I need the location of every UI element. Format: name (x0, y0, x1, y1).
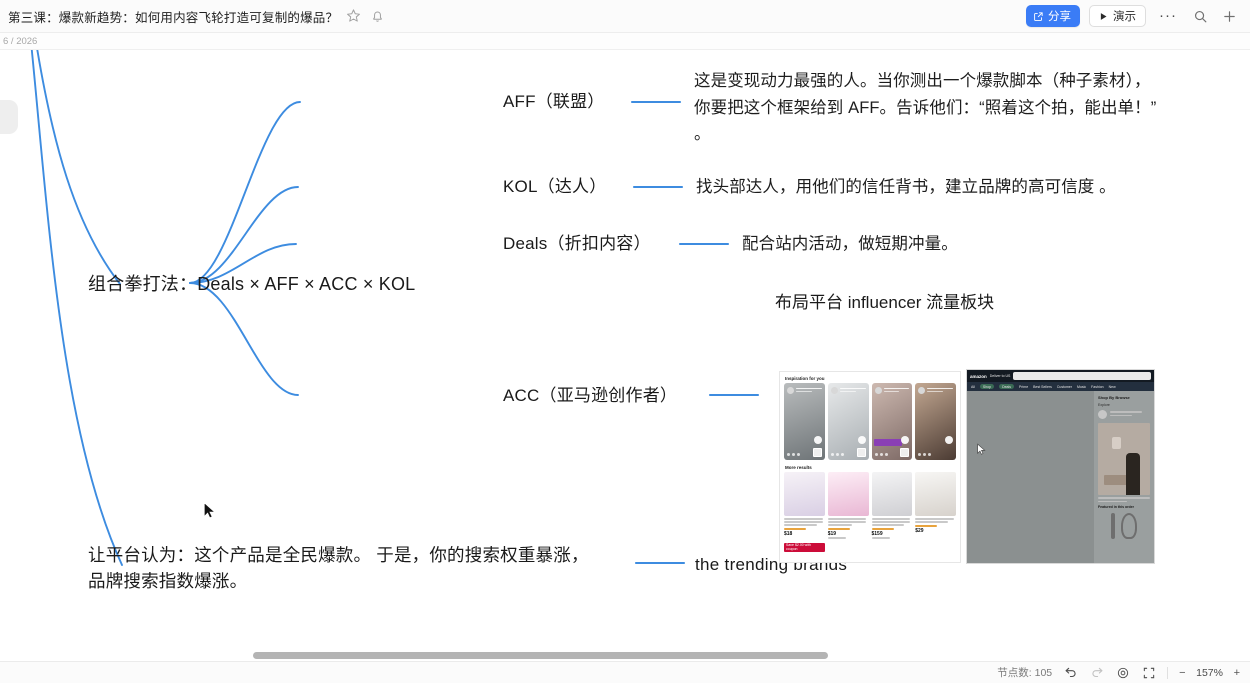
nav-item[interactable]: New (1109, 385, 1116, 389)
nav-item[interactable]: Music (1077, 385, 1086, 389)
status-bar: 节点数: 105 − 157% + (0, 661, 1250, 683)
title-bar-right: 分享 演示 ··· (1026, 5, 1250, 27)
product-card[interactable]: $19 (828, 472, 869, 555)
nav-item[interactable]: Fashion (1091, 385, 1103, 389)
product-card-row: $18 Save $2.00 with coupon $19 (780, 472, 960, 555)
share-button-label: 分享 (1048, 8, 1071, 24)
present-button-label: 演示 (1113, 8, 1136, 24)
video-card[interactable] (828, 383, 869, 460)
node-bottom[interactable]: 让平台认为：这个产品是全民爆款。 于是，你的搜索权重暴涨， 品牌搜索指数爆涨。 (88, 542, 628, 595)
search-icon[interactable] (1190, 6, 1210, 26)
share-external-icon (1033, 11, 1044, 22)
undo-arrow-icon[interactable] (1063, 665, 1078, 680)
product-card[interactable]: $159 (872, 472, 913, 555)
product-price: $19 (828, 531, 869, 537)
avatar (1098, 410, 1107, 419)
nav-item[interactable]: Deals (999, 384, 1014, 389)
embedded-image-amazon-page[interactable]: amazon Deliver to US All Shop Deals Prim… (966, 369, 1155, 564)
feed-section2-label: More results (780, 460, 960, 472)
video-card-row (780, 383, 960, 460)
amazon-nav: All Shop Deals Prime Best Sellers Custom… (967, 382, 1154, 391)
amazon-logo: amazon (970, 374, 987, 379)
nav-item[interactable]: Best Sellers (1033, 385, 1052, 389)
nav-item[interactable]: All (971, 385, 975, 389)
horizontal-scrollbar-thumb[interactable] (253, 652, 828, 659)
node-center[interactable]: 组合拳打法：Deals × AFF × ACC × KOL (88, 271, 415, 298)
panel-subtitle: Explore (1098, 403, 1150, 407)
detail-deals[interactable]: 配合站内活动，做短期冲量。 (742, 231, 1072, 258)
mindmap-app: 第三课：爆款新趋势：如何用内容飞轮打造可复制的爆品？ 分享 (0, 0, 1250, 683)
influencer-photo[interactable] (1098, 423, 1150, 495)
panel-title: Shop By Browse (1098, 395, 1150, 400)
amazon-header: amazon Deliver to US (967, 370, 1154, 382)
zoom-level-label[interactable]: 157% (1193, 667, 1227, 679)
plus-icon[interactable] (1219, 6, 1239, 26)
video-card[interactable] (872, 383, 913, 460)
product-card[interactable]: $29 (915, 472, 956, 555)
embedded-cursor-icon (975, 443, 989, 456)
deliver-to-label: Deliver to US (990, 374, 1011, 378)
amazon-body: Shop By Browse Explore Featured in this … (967, 391, 1154, 564)
product-price: $29 (915, 528, 956, 534)
share-button[interactable]: 分享 (1026, 5, 1080, 27)
breadcrumb[interactable]: 6 / 2026 (3, 36, 37, 47)
document-title: 第三课：爆款新趋势：如何用内容飞轮打造可复制的爆品？ (8, 7, 338, 26)
redo-arrow-icon[interactable] (1089, 665, 1104, 680)
featured-products[interactable] (1098, 511, 1150, 539)
node-deals[interactable]: Deals（折扣内容） (503, 231, 651, 257)
detail-kol[interactable]: 找头部达人，用他们的信任背书，建立品牌的高可信度 。 (696, 174, 1216, 201)
mouse-cursor-icon (203, 502, 218, 521)
nav-item[interactable]: Prime (1019, 385, 1028, 389)
floating-panel-chip[interactable] (0, 100, 18, 134)
node-kol[interactable]: KOL（达人） (503, 174, 606, 200)
star-icon[interactable] (346, 8, 362, 24)
feed-section-label: Inspiration for you (780, 372, 960, 383)
node-bottom-line2: 品牌搜索指数爆涨。 (88, 568, 628, 594)
target-icon[interactable] (1115, 665, 1130, 680)
node-acc[interactable]: ACC（亚马逊创作者） (503, 383, 677, 409)
node-aff[interactable]: AFF（联盟） (503, 89, 605, 115)
embedded-image-amazon-feed[interactable]: Inspiration for you (779, 371, 961, 563)
zoom-out-button[interactable]: − (1179, 667, 1185, 679)
node-bottom-line1: 让平台认为：这个产品是全民爆款。 于是，你的搜索权重暴涨， (88, 542, 628, 568)
breadcrumb-bar: 6 / 2026 (0, 33, 1250, 50)
present-button[interactable]: 演示 (1089, 5, 1146, 27)
zoom-in-button[interactable]: + (1234, 667, 1240, 679)
fit-screen-icon[interactable] (1141, 665, 1156, 680)
video-card[interactable] (915, 383, 956, 460)
title-bar: 第三课：爆款新趋势：如何用内容飞轮打造可复制的爆品？ 分享 (0, 0, 1250, 33)
more-options-button[interactable]: ··· (1155, 9, 1181, 23)
detail-aff-line3: 。 (694, 121, 1246, 148)
play-icon (1099, 12, 1108, 21)
video-card[interactable] (784, 383, 825, 460)
detail-aff[interactable]: 这是变现动力最强的人。当你测出一个爆款脚本（种子素材）， 你要把这个框架给到 A… (694, 68, 1246, 148)
shop-by-browse-panel: Shop By Browse Explore Featured in this … (1094, 391, 1154, 564)
zoom-controls: − 157% + (1179, 667, 1240, 679)
node-count-label: 节点数: 105 (997, 665, 1052, 680)
image-node-heading[interactable]: 布局平台 influencer 流量板块 (775, 288, 994, 313)
photo-caption (1098, 497, 1150, 502)
nav-item[interactable]: Customer (1057, 385, 1072, 389)
detail-aff-line2: 你要把这个框架给到 AFF。告诉他们：“照着这个拍，能出单！” (694, 95, 1246, 122)
product-price: $18 (784, 531, 825, 537)
title-bar-left: 第三课：爆款新趋势：如何用内容飞轮打造可复制的爆品？ (0, 7, 1026, 26)
mindmap-canvas[interactable]: 组合拳打法：Deals × AFF × ACC × KOL 让平台认为：这个产品… (0, 50, 1250, 655)
nav-item[interactable]: Shop (980, 384, 994, 389)
product-badge: Save $2.00 with coupon (784, 543, 825, 552)
status-divider (1167, 667, 1168, 679)
product-price: $159 (872, 531, 913, 537)
influencer-row[interactable] (1098, 410, 1150, 419)
amazon-search-input[interactable] (1013, 372, 1151, 380)
detail-aff-line1: 这是变现动力最强的人。当你测出一个爆款脚本（种子素材）， (694, 68, 1246, 95)
product-card[interactable]: $18 Save $2.00 with coupon (784, 472, 825, 555)
featured-label: Featured in this order (1098, 505, 1150, 509)
bell-icon[interactable] (370, 8, 386, 24)
